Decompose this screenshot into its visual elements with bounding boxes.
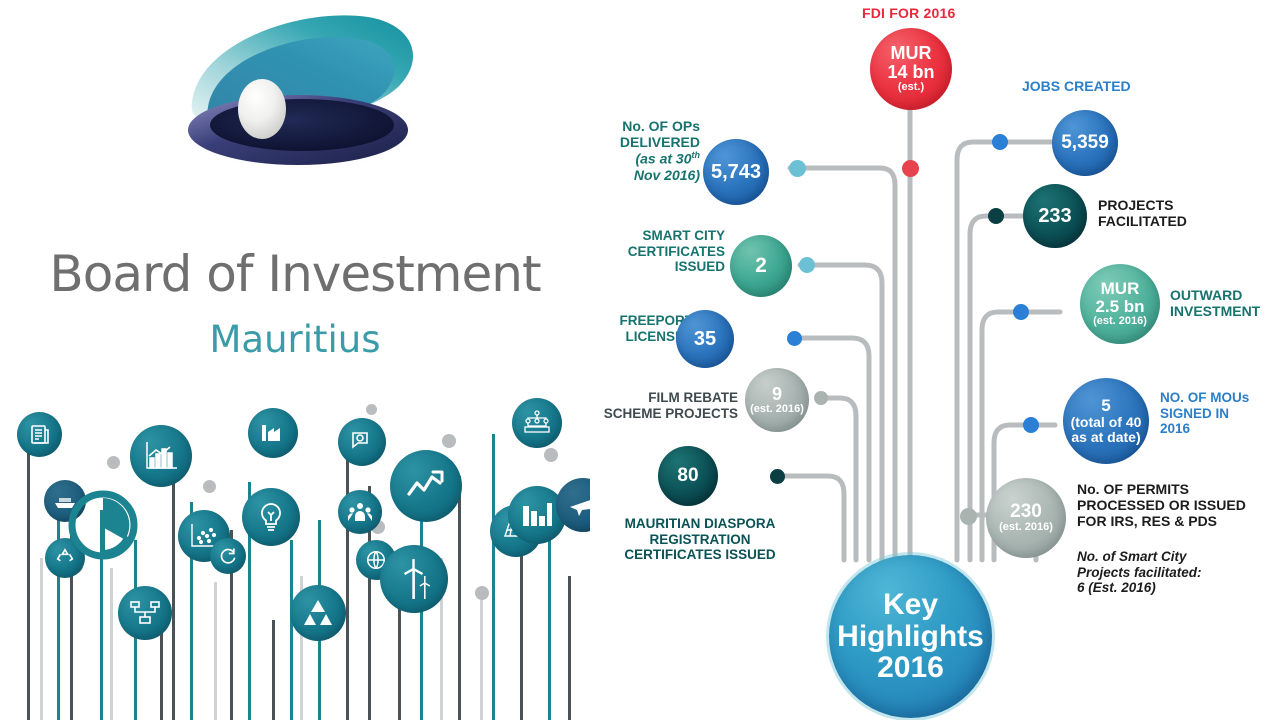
value-ops-delivered: 5,743 bbox=[711, 162, 761, 183]
node-projects-facilitated[interactable]: 233 bbox=[1023, 184, 1087, 248]
value-film-rebate-note: (est. 2016) bbox=[750, 404, 804, 416]
label-line: REGISTRATION bbox=[595, 532, 805, 548]
dot-film-rebate bbox=[814, 391, 828, 405]
label-smart-city-certificates: SMART CITY CERTIFICATES ISSUED bbox=[610, 228, 725, 275]
label-line: PROJECTS bbox=[1098, 197, 1258, 213]
fdi-value-line2: 14 bn bbox=[887, 63, 934, 82]
dot-jobs-created bbox=[992, 134, 1008, 150]
dot-smart-city-certificates bbox=[799, 257, 815, 273]
label-line: FOR IRS, RES & PDS bbox=[1077, 513, 1277, 529]
node-fdi-2016[interactable]: MUR 14 bn (est.) bbox=[870, 28, 952, 110]
label-sup: th bbox=[692, 150, 701, 160]
value-smart-city-certificates: 2 bbox=[755, 255, 767, 277]
label-line: SMART CITY bbox=[610, 228, 725, 244]
value-diaspora-certificates: 80 bbox=[677, 466, 698, 486]
note-line: No. of Smart City bbox=[1077, 549, 1277, 565]
value-permits-note: (est. 2016) bbox=[999, 522, 1053, 534]
note-line: Projects facilitated: bbox=[1077, 565, 1277, 581]
value-mous-signed: 5 bbox=[1101, 397, 1110, 415]
label-line: Nov 2016) bbox=[595, 167, 700, 183]
label-line: CERTIFICATES ISSUED bbox=[595, 547, 805, 563]
label-line: PROCESSED OR ISSUED bbox=[1077, 497, 1277, 513]
label-line: FILM REBATE bbox=[590, 390, 738, 406]
label-line: MAURITIAN DIASPORA bbox=[595, 516, 805, 532]
bar-chart-grid-icon bbox=[130, 425, 192, 487]
label-jobs-created: JOBS CREATED bbox=[1022, 78, 1192, 94]
value-outward-investment-line1: MUR bbox=[1101, 280, 1140, 298]
value-projects-facilitated: 233 bbox=[1038, 206, 1071, 227]
decor-dot bbox=[366, 404, 377, 415]
decor-dot bbox=[203, 480, 216, 493]
label-line: INVESTMENT bbox=[1170, 303, 1280, 319]
label-line: ISSUED bbox=[610, 259, 725, 275]
brand-panel: Board of Investment Mauritius bbox=[0, 0, 590, 720]
label-line: No. OF OPs bbox=[595, 118, 700, 134]
node-freeport-licenses[interactable]: 35 bbox=[676, 310, 734, 368]
fdi-value-note: (est.) bbox=[898, 82, 924, 94]
label-mous-signed: NO. OF MOUs SIGNED IN 2016 bbox=[1160, 390, 1280, 437]
dot-outward-investment bbox=[1013, 304, 1029, 320]
label-line: CERTIFICATES bbox=[610, 244, 725, 260]
fdi-heading: FDI FOR 2016 bbox=[862, 5, 955, 21]
chat-gear-icon bbox=[338, 418, 386, 466]
dot-projects-facilitated bbox=[988, 208, 1004, 224]
key-highlights-diagram: FDI FOR 2016 MUR 14 bn (est.) No. OF OPs… bbox=[590, 0, 1280, 720]
value-permits-processed: 230 bbox=[1010, 502, 1042, 522]
decor-dot bbox=[475, 586, 489, 600]
logo-block: Board of Investment Mauritius bbox=[0, 0, 590, 390]
decor-dot bbox=[107, 456, 120, 469]
value-mous-asat: as at date) bbox=[1071, 430, 1140, 445]
value-outward-investment-line2: 2.5 bn bbox=[1095, 298, 1144, 316]
node-jobs-created[interactable]: 5,359 bbox=[1052, 110, 1118, 176]
label-line: SIGNED IN bbox=[1160, 406, 1280, 422]
label-line: FACILITATED bbox=[1098, 213, 1258, 229]
fdi-value-line1: MUR bbox=[891, 44, 932, 63]
value-freeport-licenses: 35 bbox=[694, 329, 716, 350]
dot-diaspora-certificates bbox=[770, 469, 785, 484]
wind-turbine-icon bbox=[380, 545, 448, 613]
org-chart-icon bbox=[512, 398, 562, 448]
dot-mous-signed bbox=[1023, 417, 1039, 433]
key-line2: Highlights bbox=[837, 621, 984, 653]
label-line: DELIVERED bbox=[595, 134, 700, 150]
brand-subtitle: Mauritius bbox=[0, 318, 590, 361]
brand-title: Board of Investment bbox=[0, 245, 590, 303]
fdi-connector-dot bbox=[902, 160, 919, 177]
label-film-rebate: FILM REBATE SCHEME PROJECTS bbox=[590, 390, 738, 421]
dot-freeport-licenses bbox=[787, 331, 802, 346]
node-diaspora-certificates[interactable]: 80 bbox=[658, 446, 718, 506]
pearl-oyster-shell-logo bbox=[150, 5, 440, 205]
node-ops-delivered[interactable]: 5,743 bbox=[703, 139, 769, 205]
node-key-highlights[interactable]: Key Highlights 2016 bbox=[829, 555, 992, 718]
label-projects-facilitated: PROJECTS FACILITATED bbox=[1098, 197, 1258, 229]
dot-ops-delivered bbox=[789, 160, 806, 177]
node-film-rebate[interactable]: 9 (est. 2016) bbox=[745, 368, 809, 432]
network-diagram-icon bbox=[118, 586, 172, 640]
node-mous-signed[interactable]: 5 (total of 40 as at date) bbox=[1063, 378, 1149, 464]
node-permits-processed[interactable]: 230 (est. 2016) bbox=[986, 478, 1066, 558]
node-smart-city-certificates[interactable]: 2 bbox=[730, 235, 792, 297]
label-line: NO. OF MOUs bbox=[1160, 390, 1280, 406]
refresh-arrow-icon bbox=[210, 538, 246, 574]
people-group-icon bbox=[338, 490, 382, 534]
key-line3: 2016 bbox=[877, 652, 944, 684]
decor-dot bbox=[544, 448, 558, 462]
value-outward-investment-note: (est. 2016) bbox=[1093, 316, 1147, 328]
label-diaspora-certificates: MAURITIAN DIASPORA REGISTRATION CERTIFIC… bbox=[595, 516, 805, 563]
value-mous-total: (total of 40 bbox=[1071, 415, 1142, 430]
document-list-icon bbox=[17, 412, 62, 457]
icon-collage bbox=[0, 390, 590, 720]
lightbulb-icon bbox=[242, 488, 300, 546]
infographic-canvas: Board of Investment Mauritius bbox=[0, 0, 1280, 720]
label-line: SCHEME PROJECTS bbox=[590, 406, 738, 422]
value-film-rebate: 9 bbox=[772, 385, 782, 404]
label-line: (as at 30 bbox=[635, 151, 691, 167]
key-line1: Key bbox=[883, 589, 938, 621]
factory-icon bbox=[248, 408, 298, 458]
label-ops-delivered: No. OF OPs DELIVERED (as at 30th Nov 201… bbox=[595, 118, 700, 184]
growth-arrow-icon bbox=[390, 450, 462, 522]
label-line: JOBS CREATED bbox=[1022, 78, 1192, 94]
decor-dot bbox=[442, 434, 456, 448]
label-permits-processed: No. OF PERMITS PROCESSED OR ISSUED FOR I… bbox=[1077, 481, 1277, 530]
value-jobs-created: 5,359 bbox=[1061, 133, 1109, 153]
dot-permits-processed bbox=[960, 508, 977, 525]
label-line: OUTWARD bbox=[1170, 287, 1280, 303]
note-line: 6 (Est. 2016) bbox=[1077, 580, 1277, 596]
label-line: No. OF PERMITS bbox=[1077, 481, 1277, 497]
triangle-stack-icon bbox=[290, 585, 346, 641]
node-outward-investment[interactable]: MUR 2.5 bn (est. 2016) bbox=[1080, 264, 1160, 344]
label-outward-investment: OUTWARD INVESTMENT bbox=[1170, 287, 1280, 319]
label-line: 2016 bbox=[1160, 421, 1280, 437]
note-smart-city-projects: No. of Smart City Projects facilitated: … bbox=[1077, 549, 1277, 596]
pie-chart-icon bbox=[68, 490, 138, 560]
